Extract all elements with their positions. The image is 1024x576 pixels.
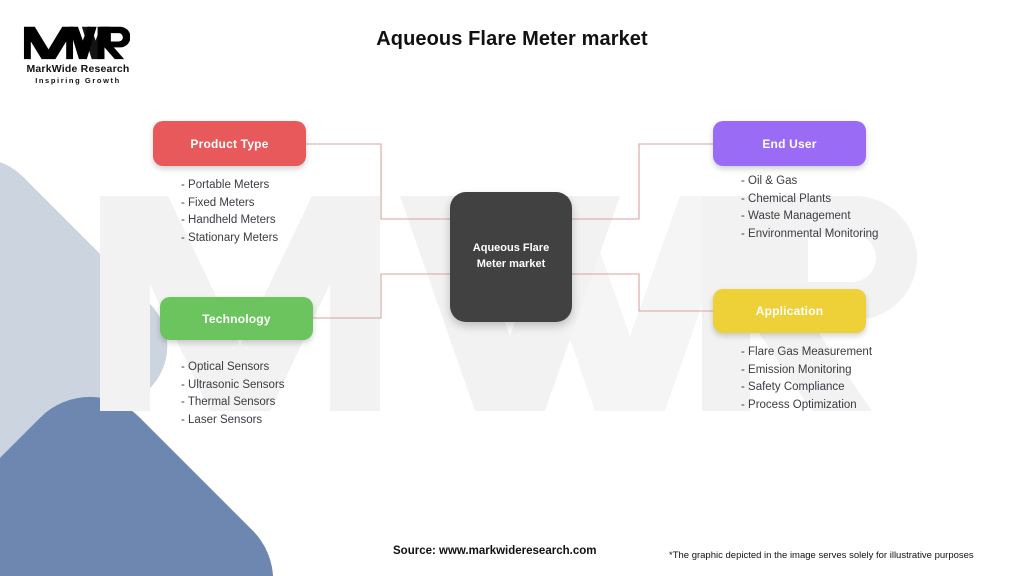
list-item: - Ultrasonic Sensors [181,377,285,395]
branch-list-end-user: - Oil & Gas - Chemical Plants - Waste Ma… [741,173,878,243]
list-item: - Stationary Meters [181,230,278,248]
list-item: - Process Optimization [741,397,872,415]
branch-node-application[interactable]: Application [713,289,866,333]
list-item: - Waste Management [741,208,878,226]
list-item: - Flare Gas Measurement [741,344,872,362]
logo-company-name: MarkWide Research [16,63,140,75]
list-item: - Environmental Monitoring [741,226,878,244]
list-item: - Laser Sensors [181,412,285,430]
list-item: - Emission Monitoring [741,362,872,380]
branch-node-end-user[interactable]: End User [713,121,866,166]
branch-list-technology: - Optical Sensors - Ultrasonic Sensors -… [181,359,285,429]
connector-technology [313,274,452,318]
page-title: Aqueous Flare Meter market [0,28,1024,51]
list-item: - Oil & Gas [741,173,878,191]
list-item: - Thermal Sensors [181,394,285,412]
list-item: - Chemical Plants [741,191,878,209]
list-item: - Fixed Meters [181,195,278,213]
logo-tagline: Inspiring Growth [16,76,140,85]
list-item: - Optical Sensors [181,359,285,377]
branch-node-technology[interactable]: Technology [160,297,313,340]
connector-product-type [306,144,452,219]
center-node[interactable]: Aqueous Flare Meter market [450,192,572,322]
source-label: Source: www.markwideresearch.com [393,545,596,557]
branch-list-product-type: - Portable Meters - Fixed Meters - Handh… [181,177,278,247]
list-item: - Portable Meters [181,177,278,195]
list-item: - Safety Compliance [741,379,872,397]
branch-node-product-type[interactable]: Product Type [153,121,306,166]
branch-list-application: - Flare Gas Measurement - Emission Monit… [741,344,872,414]
list-item: - Handheld Meters [181,212,278,230]
disclaimer-label: *The graphic depicted in the image serve… [669,550,974,561]
